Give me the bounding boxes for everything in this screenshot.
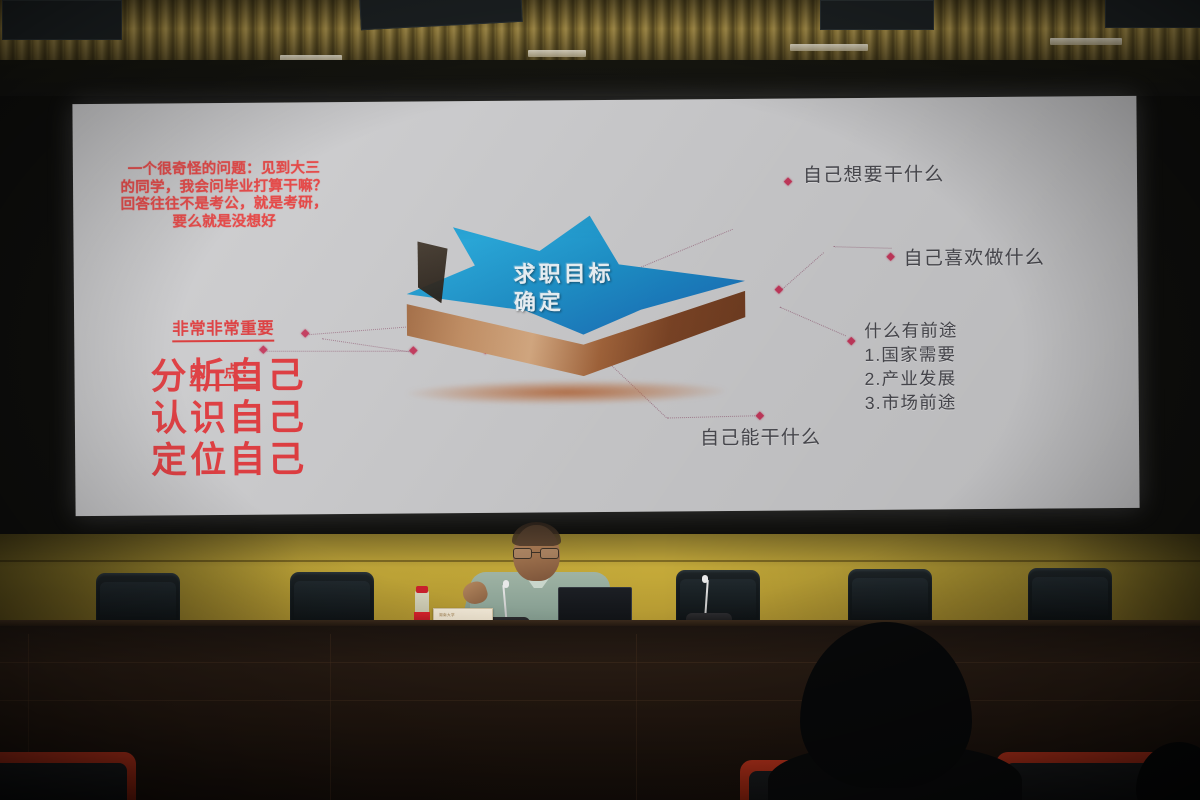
panel-chair <box>1028 568 1112 624</box>
emphasis-heading-line1: 非常非常重要 <box>172 319 274 343</box>
desk-panel-line <box>0 700 1200 701</box>
microphone-head <box>702 575 708 583</box>
slide-label-future-item: 2.产业发展 <box>864 367 956 390</box>
slide-red-intro-text: 一个很奇怪的问题：见到大三 的同学，我会问毕业打算干嘛？ 回答往往不是考公，就是… <box>89 160 360 233</box>
lecture-hall-photo: 一个很奇怪的问题：见到大三 的同学，我会问毕业打算干嘛？ 回答往往不是考公，就是… <box>0 0 1200 800</box>
connector-line-can-b <box>667 415 761 418</box>
connector-dot-like-end <box>886 253 894 261</box>
connector-dot-like-start <box>775 285 783 293</box>
star-label-text: 求职目标 确定 <box>514 260 614 316</box>
connector-dot-want-end <box>784 177 792 185</box>
slide-red-emphasis-item: 定位自己 <box>131 438 327 482</box>
audience-seat <box>0 752 136 800</box>
name-card-org: 湖南大学 <box>439 613 455 618</box>
connector-dot-future-end <box>847 337 855 345</box>
slide-label-like: 自己喜欢做什么 <box>904 247 1046 271</box>
slide-red-emphasis-item: 分析自己 <box>130 354 326 398</box>
panel-chair <box>848 569 932 625</box>
slide-label-want: 自己想要干什么 <box>803 163 945 187</box>
desk-panel-divider <box>636 634 637 800</box>
connector-line-like-b <box>834 246 892 249</box>
star-shadow <box>407 379 727 406</box>
slide-red-emphasis-item: 认识自己 <box>131 396 327 440</box>
star-graphic: 求职目标 确定 <box>395 211 757 414</box>
ceiling-light-strip <box>1050 38 1122 45</box>
projection-screen: 一个很奇怪的问题：见到大三 的同学，我会问毕业打算干嘛？ 回答往往不是考公，就是… <box>72 96 1139 516</box>
ceiling-acoustic-panel <box>820 0 934 30</box>
slide-label-future-item: 3.市场前途 <box>865 391 957 414</box>
slide-label-can: 自己能干什么 <box>700 426 821 450</box>
connector-line-emphasis-b <box>264 351 412 352</box>
ceiling-light-strip <box>790 44 868 51</box>
slide-label-future-title: 什么有前途 <box>864 319 958 342</box>
ceiling-acoustic-panel <box>2 0 122 40</box>
connector-line-like <box>780 252 824 291</box>
microphone-head <box>503 580 509 588</box>
desk-panel-divider <box>330 634 331 800</box>
desk-panel-line <box>0 662 1200 663</box>
connector-line-future <box>780 307 846 337</box>
ceiling-acoustic-panel <box>1105 0 1200 28</box>
speaker-glasses-icon <box>513 548 559 557</box>
water-bottle-cap <box>416 586 428 593</box>
slide-label-future-item: 1.国家需要 <box>864 343 956 366</box>
ceiling-light-strip <box>528 50 586 57</box>
connector-dot-can-end <box>756 412 764 420</box>
